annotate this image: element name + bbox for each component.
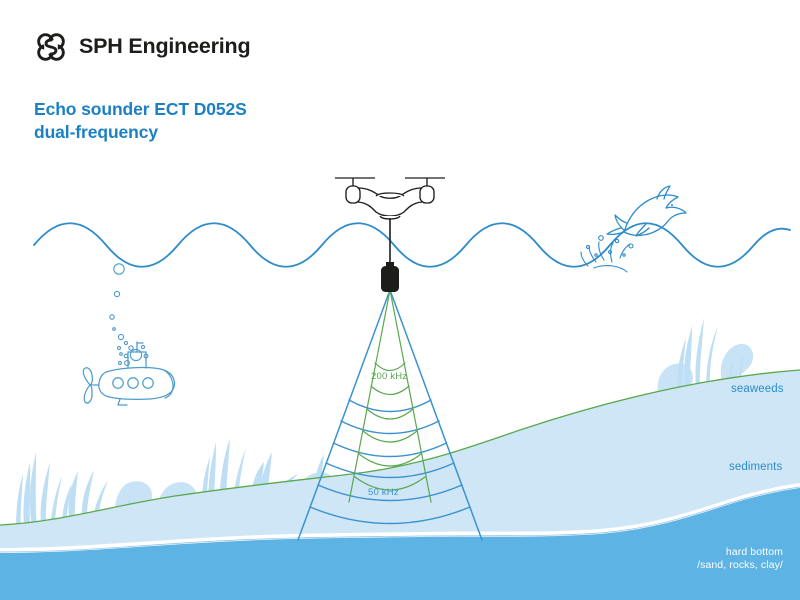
water-surface-wave-icon <box>34 223 790 267</box>
layer-label-sediments: sediments <box>729 461 782 473</box>
echo-sounder-scene <box>0 0 800 600</box>
brand-name: SPH Engineering <box>79 36 250 58</box>
diagram-canvas: SPH Engineering Echo sounder ECT D052S d… <box>0 0 800 600</box>
air-bubbles-icon <box>110 264 148 366</box>
water-splash-icon <box>581 236 633 272</box>
page-title: Echo sounder ECT D052S dual-frequency <box>34 98 247 145</box>
submarine-icon <box>83 342 174 405</box>
dolphin-icon <box>607 186 686 236</box>
brand-lockup: SPH Engineering <box>34 30 250 64</box>
layer-label-hard-bottom: hard bottom /sand, rocks, clay/ <box>697 546 783 573</box>
sph-clover-logo-icon <box>34 30 68 64</box>
beam-label-200khz: 200 kHz <box>371 371 407 382</box>
sonar-transducer-icon <box>381 262 399 292</box>
beam-label-50khz: 50 kHz <box>368 487 399 498</box>
layer-label-seaweeds: seaweeds <box>731 383 784 395</box>
quadcopter-drone-icon <box>335 178 445 219</box>
